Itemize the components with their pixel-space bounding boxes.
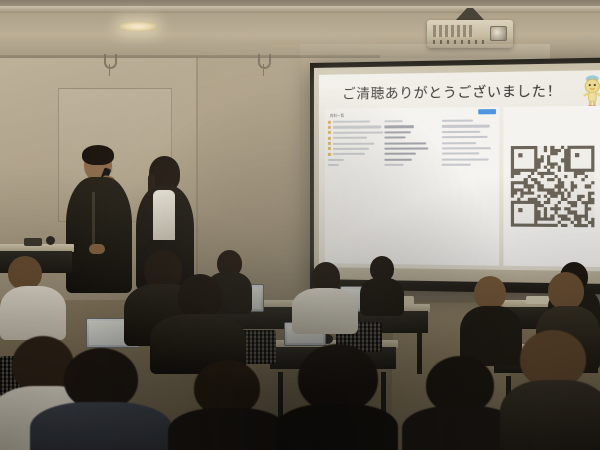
attendee-front-3	[168, 360, 288, 450]
ceiling-vent	[272, 40, 300, 47]
equipment-box	[24, 238, 42, 246]
attendee-torso	[360, 278, 404, 316]
ceiling-hook-left	[104, 54, 117, 69]
attendee-torso	[276, 404, 398, 450]
slide-action-chip[interactable]	[478, 109, 496, 114]
presentation-slide: ご清聴ありがとうございました！ 資料一覧	[319, 70, 600, 271]
slide-body: 資料一覧	[325, 106, 600, 267]
equipment-knob	[46, 236, 55, 245]
recessed-ceiling-light	[120, 22, 156, 31]
attendee-front-6	[500, 330, 600, 450]
attendee-torso	[168, 408, 288, 450]
attendee-shirt	[292, 288, 358, 334]
ceiling-projector	[427, 20, 513, 48]
projector-lens	[490, 26, 507, 41]
attendee-head	[474, 276, 506, 310]
presenter-male-jacket	[66, 177, 132, 293]
slide-title: ご清聴ありがとうございました！	[327, 79, 578, 103]
ceiling-rail	[0, 6, 600, 13]
presenter-female-top	[153, 190, 175, 242]
slide-column-2	[384, 120, 437, 169]
attendee-mid-left-1	[0, 256, 66, 336]
slide-column-3	[442, 119, 496, 169]
attendee-front-2	[30, 348, 172, 450]
attendee-head	[548, 272, 584, 310]
attendee-shirt	[0, 286, 66, 340]
slide-text-pane: 資料一覧	[325, 107, 499, 266]
ceiling-hook-right	[258, 54, 271, 69]
slide-column-1	[328, 120, 380, 169]
attendee-back-2	[292, 262, 358, 332]
qr-code	[511, 146, 595, 228]
attendee-head	[298, 344, 378, 412]
attendee-front-4	[276, 344, 398, 450]
qr-finder-bottom-left	[511, 201, 538, 227]
projection-screen: ご清聴ありがとうございました！ 資料一覧	[310, 57, 600, 294]
conference-room-photo: ご清聴ありがとうございました！ 資料一覧	[0, 0, 600, 450]
presenter-male-hand-lower	[89, 244, 105, 254]
presenter-male-hair	[82, 145, 114, 165]
projector-vent	[433, 25, 473, 37]
slide-columns	[328, 119, 496, 169]
qr-finder-top-right	[567, 146, 594, 172]
qr-finder-top-left	[511, 146, 538, 172]
attendee-jacket	[30, 402, 172, 450]
projector-buttons	[433, 40, 489, 44]
attendee-back-3	[360, 256, 404, 314]
attendee-suit	[500, 380, 600, 450]
slide-qr-pane	[503, 106, 600, 267]
attendee-head	[64, 348, 138, 410]
slide-pane-heading: 資料一覧	[330, 111, 496, 118]
cartoon-mascot-icon	[580, 73, 600, 109]
attendee-head	[8, 256, 42, 290]
